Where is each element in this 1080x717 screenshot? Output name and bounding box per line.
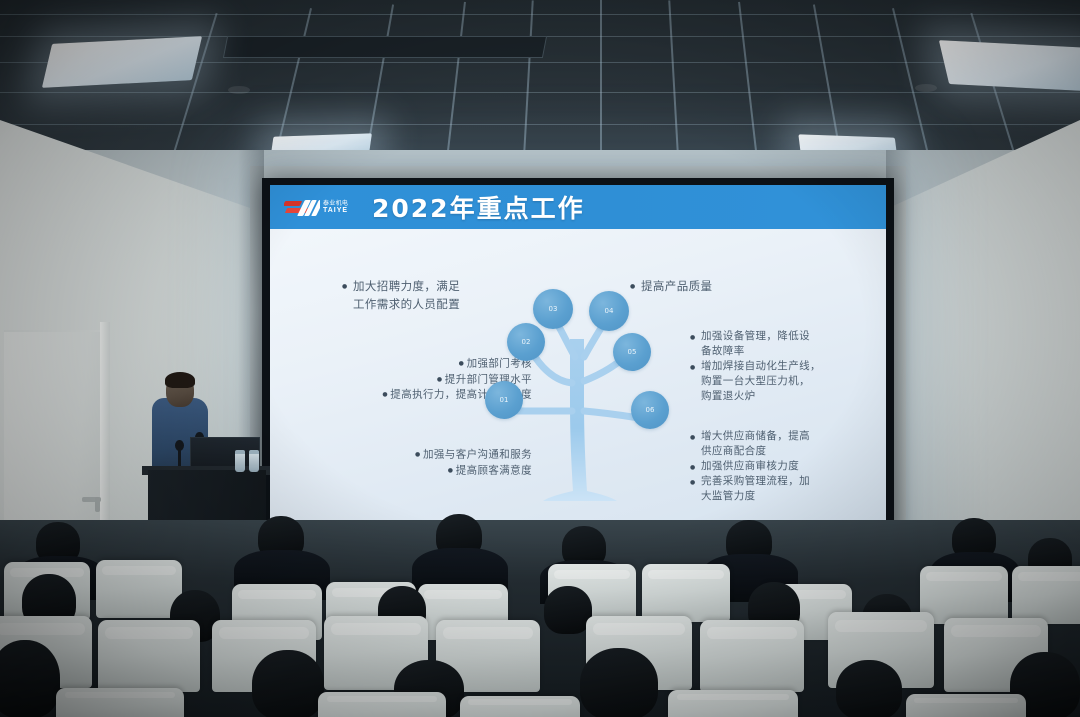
audience-chair xyxy=(1012,566,1080,624)
tree-node-label: 05 xyxy=(628,348,637,356)
bullet-group-supplier: 增大供应商储备，提高 供应商配合度 加强供应商审核力度 完善采购管理流程，加 大… xyxy=(690,429,870,504)
tree-node-label: 01 xyxy=(500,396,509,404)
slide-header: 泰业机电 TAIYE 2022年重点工作 xyxy=(270,185,886,229)
tree-node-label: 03 xyxy=(549,305,558,313)
audience-head xyxy=(836,660,902,717)
audience-chair xyxy=(98,620,200,692)
ceiling-light xyxy=(42,36,202,88)
audience-chair xyxy=(96,560,182,618)
audience-chair xyxy=(920,566,1008,624)
audience-chair xyxy=(460,696,580,717)
presenter-hair xyxy=(165,372,195,388)
water-bottle xyxy=(235,450,245,472)
audience-chair xyxy=(700,620,804,692)
logo-wordmark: 泰业机电 TAIYE xyxy=(323,201,348,214)
tree-node-label: 02 xyxy=(522,338,531,346)
ceiling-vent xyxy=(223,36,547,58)
tree-diagram: 01 02 03 04 05 06 xyxy=(485,261,675,511)
tree-node-04[interactable]: 04 xyxy=(589,291,629,331)
logo-mark-icon xyxy=(284,198,320,217)
tree-node-05[interactable]: 05 xyxy=(613,333,651,371)
tree-node-01[interactable]: 01 xyxy=(485,381,523,419)
logo-chinese-name: 泰业机电 xyxy=(323,201,348,207)
audience-chair xyxy=(906,694,1026,717)
bullet-item: 加强供应商审核力度 xyxy=(690,459,870,474)
audience-chair xyxy=(668,690,798,717)
logo-latin-name: TAIYE xyxy=(323,207,348,214)
slide-title: 2022年重点工作 xyxy=(372,189,585,225)
company-logo: 泰业机电 TAIYE xyxy=(284,196,360,218)
audience-chair xyxy=(642,564,730,622)
bullet-item: 加强设备管理，降低设 备故障率 xyxy=(690,329,870,359)
tree-node-label: 04 xyxy=(605,307,614,315)
audience-head xyxy=(544,586,592,634)
door-handle-lever[interactable] xyxy=(95,497,100,512)
audience-chair xyxy=(56,688,184,717)
ceiling-light xyxy=(939,40,1080,92)
presentation-slide[interactable]: 泰业机电 TAIYE 2022年重点工作 加大招聘力度，满足 工作需求的人员配置… xyxy=(270,185,886,536)
tree-node-02[interactable]: 02 xyxy=(507,323,545,361)
projection-screen-bezel: 泰业机电 TAIYE 2022年重点工作 加大招聘力度，满足 工作需求的人员配置… xyxy=(262,178,894,545)
tree-node-03[interactable]: 03 xyxy=(533,289,573,329)
audience-area xyxy=(0,520,1080,717)
tree-node-label: 06 xyxy=(646,406,655,414)
water-bottle xyxy=(249,450,259,472)
audience-chair xyxy=(318,692,446,717)
audience-head xyxy=(252,650,324,717)
conference-room-scene: 泰业机电 TAIYE 2022年重点工作 加大招聘力度，满足 工作需求的人员配置… xyxy=(0,0,1080,717)
microphone-head xyxy=(175,440,184,451)
bullet-item: 增加焊接自动化生产线， 购置一台大型压力机， 购置退火炉 xyxy=(690,359,870,404)
slide-body: 加大招聘力度，满足 工作需求的人员配置 加强部门考核 提升部门管理水平 提高执行… xyxy=(270,229,886,536)
audience-head xyxy=(580,648,658,717)
bullet-group-equipment: 加强设备管理，降低设 备故障率 增加焊接自动化生产线， 购置一台大型压力机， 购… xyxy=(690,329,870,404)
tree-node-06[interactable]: 06 xyxy=(631,391,669,429)
bullet-item: 增大供应商储备，提高 供应商配合度 xyxy=(690,429,870,459)
audience-head xyxy=(0,640,60,717)
bullet-item: 完善采购管理流程，加 大监管力度 xyxy=(690,474,870,504)
